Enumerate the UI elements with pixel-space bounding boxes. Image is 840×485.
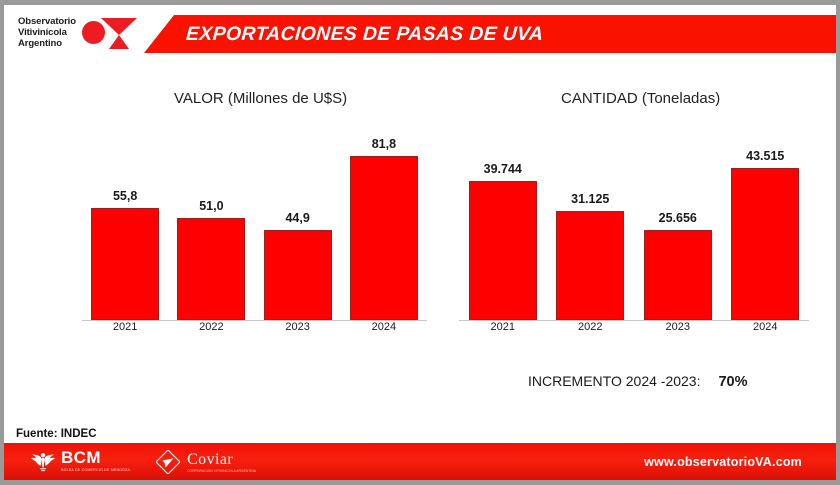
- condor-icon: [30, 450, 56, 474]
- bar-value-label: 31.125: [571, 192, 609, 206]
- bar-value-label: 39.744: [484, 162, 522, 176]
- bar-group: 43.515: [730, 125, 800, 320]
- bar-group: 51,0: [176, 125, 246, 320]
- logo-line-2: Vitivinícola: [18, 27, 76, 38]
- chart-valor: 55,8 51,0 44,9 81,8 2021 2022 2023 2024: [82, 125, 427, 340]
- observatorio-logo: Observatorio Vitivinícola Argentino: [18, 12, 138, 52]
- bar-group: 44,9: [263, 125, 333, 320]
- x-axis-tick: 2022: [176, 321, 246, 333]
- x-axis-labels-valor: 2021 2022 2023 2024: [82, 321, 427, 333]
- bar-value-label: 51,0: [199, 199, 223, 213]
- x-axis-tick: 2021: [468, 321, 538, 333]
- coviar-subtitle: CORPORACION VITIVINICOLA ARGENTINA: [187, 469, 256, 473]
- bar-value-label: 43.515: [746, 149, 784, 163]
- bar: [91, 208, 159, 320]
- bcm-subtitle: BOLSA DE COMERCIO DE MENDOZA: [61, 468, 130, 472]
- footer: BCM BOLSA DE COMERCIO DE MENDOZA Coviar …: [4, 443, 836, 480]
- coviar-logo: Coviar CORPORACION VITIVINICOLA ARGENTIN…: [156, 450, 256, 474]
- x-axis-tick: 2023: [263, 321, 333, 333]
- footer-website-url[interactable]: www.observatorioVA.com: [644, 455, 802, 469]
- chart-title-cantidad: CANTIDAD (Toneladas): [561, 90, 720, 107]
- chart-cantidad: 39.744 31.125 25.656 43.515 2021 2022 20…: [459, 125, 809, 340]
- bar-value-label: 55,8: [113, 189, 137, 203]
- plot-area-valor: 55,8 51,0 44,9 81,8: [82, 125, 427, 321]
- slide: Observatorio Vitivinícola Argentino EXPO…: [0, 0, 840, 485]
- bar: [469, 181, 537, 320]
- bar-group: 81,8: [349, 125, 419, 320]
- incremento-label: INCREMENTO 2024 -2023:: [528, 373, 700, 389]
- incremento-annotation: INCREMENTO 2024 -2023: 70%: [528, 373, 748, 390]
- bar-group: 39.744: [468, 125, 538, 320]
- bcm-logo: BCM BOLSA DE COMERCIO DE MENDOZA: [30, 450, 130, 474]
- bar-value-label: 44,9: [285, 211, 309, 225]
- bar: [177, 218, 245, 320]
- logo-triangle-up-icon: [109, 35, 129, 49]
- coviar-diamond-icon: [156, 450, 180, 474]
- bar: [264, 230, 332, 320]
- observatorio-logo-text: Observatorio Vitivinícola Argentino: [18, 16, 76, 49]
- bar-value-label: 81,8: [372, 137, 396, 151]
- bcm-logo-text: BCM BOLSA DE COMERCIO DE MENDOZA: [61, 450, 130, 472]
- logo-line-1: Observatorio: [18, 16, 76, 27]
- x-axis-tick: 2024: [349, 321, 419, 333]
- header: Observatorio Vitivinícola Argentino EXPO…: [4, 5, 836, 61]
- bar-group: 31.125: [555, 125, 625, 320]
- x-axis-labels-cantidad: 2021 2022 2023 2024: [459, 321, 809, 333]
- coviar-name: Coviar: [187, 451, 233, 468]
- bar: [644, 230, 712, 320]
- source-note: Fuente: INDEC: [16, 428, 97, 440]
- footer-logos: BCM BOLSA DE COMERCIO DE MENDOZA Coviar …: [30, 450, 256, 474]
- plot-area-cantidad: 39.744 31.125 25.656 43.515: [459, 125, 809, 321]
- bcm-name: BCM: [61, 448, 101, 467]
- coviar-logo-text: Coviar CORPORACION VITIVINICOLA ARGENTIN…: [187, 451, 256, 473]
- bar: [556, 211, 624, 320]
- x-axis-tick: 2024: [730, 321, 800, 333]
- bar: [350, 156, 418, 320]
- chart-title-valor: VALOR (Millones de U$S): [174, 90, 347, 107]
- x-axis-tick: 2023: [643, 321, 713, 333]
- bar: [731, 168, 799, 320]
- x-axis-tick: 2022: [555, 321, 625, 333]
- logo-triangle-down-icon: [101, 18, 137, 35]
- logo-line-3: Argentino: [18, 38, 76, 49]
- title-banner: EXPORTACIONES DE PASAS DE UVA: [144, 15, 836, 53]
- observatorio-logo-mark-icon: [82, 12, 138, 52]
- x-axis-tick: 2021: [90, 321, 160, 333]
- bar-value-label: 25.656: [659, 211, 697, 225]
- bar-group: 55,8: [90, 125, 160, 320]
- incremento-value: 70%: [718, 374, 747, 390]
- page-title: EXPORTACIONES DE PASAS DE UVA: [185, 23, 544, 46]
- bar-group: 25.656: [643, 125, 713, 320]
